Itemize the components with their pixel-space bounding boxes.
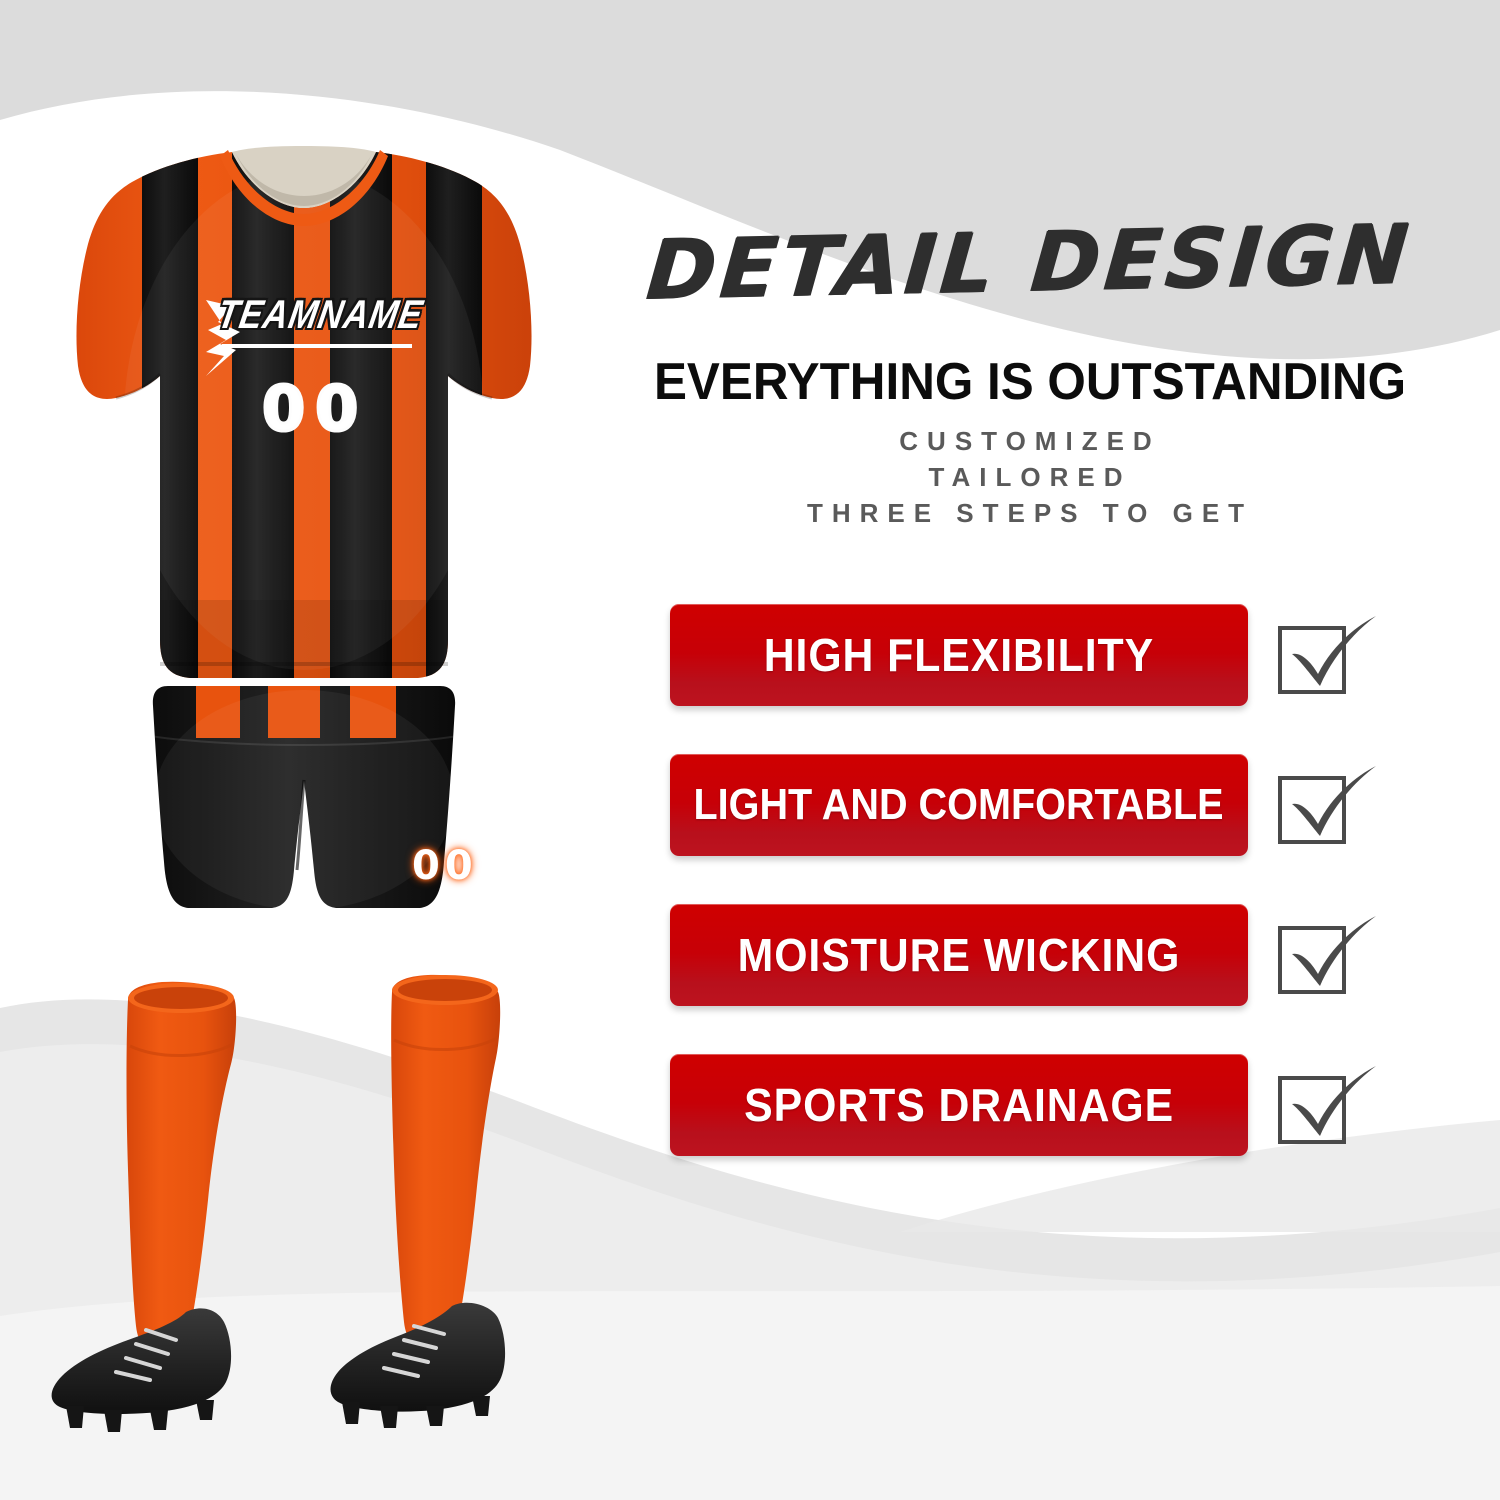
feature-list: HIGH FLEXIBILITY LIGHT AND COMFORTABLE bbox=[560, 604, 1500, 1204]
checkbox-checked-icon bbox=[1270, 1060, 1382, 1152]
feature-row: MOISTURE WICKING bbox=[560, 904, 1500, 1006]
feature-banner-light-and-comfortable[interactable]: LIGHT AND COMFORTABLE bbox=[670, 754, 1248, 856]
page-subtitle: EVERYTHING IS OUTSTANDING bbox=[584, 352, 1477, 412]
feature-label: LIGHT AND COMFORTABLE bbox=[694, 780, 1224, 830]
feature-label: HIGH FLEXIBILITY bbox=[764, 628, 1154, 682]
headline-group: DETAIL DESIGN bbox=[560, 222, 1500, 304]
checkbox-checked-icon bbox=[1270, 610, 1382, 702]
tagline-list: CUSTOMIZED TAILORED THREE STEPS TO GET bbox=[560, 424, 1500, 532]
tagline-1: TAILORED bbox=[560, 460, 1500, 496]
jersey-number: 00 bbox=[262, 372, 368, 445]
checkbox-checked-icon bbox=[1270, 760, 1382, 852]
feature-row: LIGHT AND COMFORTABLE bbox=[560, 754, 1500, 856]
feature-row: HIGH FLEXIBILITY bbox=[560, 604, 1500, 706]
feature-banner-high-flexibility[interactable]: HIGH FLEXIBILITY bbox=[670, 604, 1248, 706]
page-title: DETAIL DESIGN bbox=[556, 212, 1500, 314]
marketing-panel: DETAIL DESIGN EVERYTHING IS OUTSTANDING … bbox=[560, 0, 1500, 1500]
checkbox-checked-icon bbox=[1270, 910, 1382, 1002]
tagline-0: CUSTOMIZED bbox=[560, 424, 1500, 460]
jersey-team-name: TEAMNAME bbox=[214, 292, 427, 338]
feature-row: SPORTS DRAINAGE bbox=[560, 1054, 1500, 1156]
shorts-number: 00 bbox=[412, 843, 478, 889]
cleats-graphic bbox=[52, 1303, 505, 1432]
product-showcase: TEAMNAME 00 00 bbox=[0, 0, 600, 1500]
tagline-2: THREE STEPS TO GET bbox=[560, 496, 1500, 532]
jersey-name-underline bbox=[222, 344, 412, 348]
socks-graphic bbox=[127, 975, 501, 1354]
feature-label: SPORTS DRAINAGE bbox=[744, 1078, 1174, 1132]
soccer-kit-illustration bbox=[0, 0, 600, 1500]
feature-banner-moisture-wicking[interactable]: MOISTURE WICKING bbox=[670, 904, 1248, 1006]
feature-label: MOISTURE WICKING bbox=[738, 928, 1181, 982]
feature-banner-sports-drainage[interactable]: SPORTS DRAINAGE bbox=[670, 1054, 1248, 1156]
